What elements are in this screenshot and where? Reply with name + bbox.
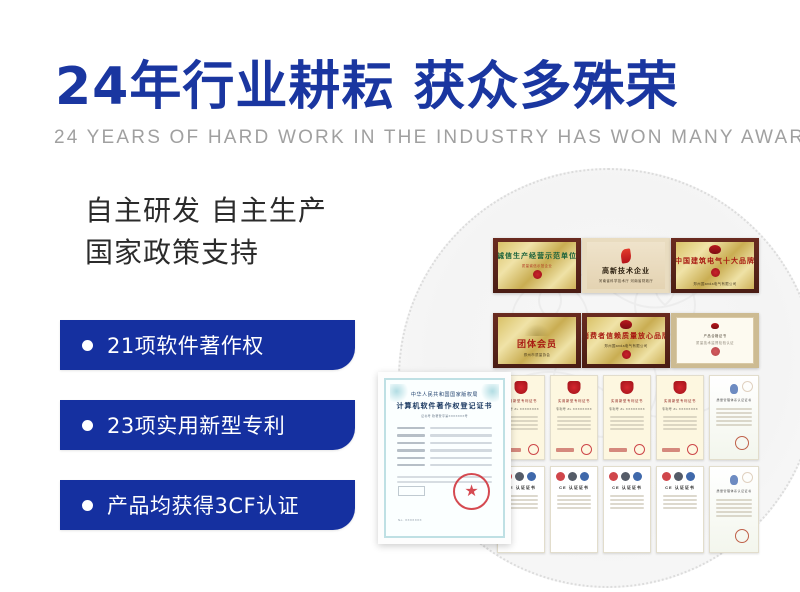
rohs-mark-icon — [674, 472, 683, 481]
iso-mark-icon — [686, 472, 695, 481]
ce-title: CE 认证证书 — [657, 485, 703, 491]
ce-body-lines — [557, 495, 591, 511]
lead-text: 自主研发 自主生产 国家政策支持 — [85, 190, 327, 274]
iso-mark-icon — [527, 472, 536, 481]
signature-mark — [556, 448, 574, 452]
iso-mark-icon — [633, 472, 642, 481]
plaque-face: 诚信生产经营示范单位 质量诚信示范企业 — [498, 242, 576, 289]
patent-title: 实用新型专利证书 — [551, 398, 597, 403]
certificate-body: 中华人民共和国国家版权局 计算机软件著作权登记证书 证书号 软著登字第XXXXX… — [384, 378, 505, 538]
seal-icon — [711, 268, 720, 277]
patent-title: 实用新型专利证书 — [657, 398, 703, 403]
software-copyright-certificate: 中华人民共和国国家版权局 计算机软件著作权登记证书 证书号 软著登字第XXXXX… — [378, 372, 511, 544]
feature-bar-label: 21项软件著作权 — [107, 330, 264, 360]
ce-body-lines — [610, 495, 644, 511]
round-seal-icon — [735, 436, 749, 450]
emblem-icon — [620, 320, 632, 329]
round-seal-icon — [581, 444, 592, 455]
page-title: 24年行业耕耘 获众多殊荣 — [55, 58, 678, 116]
plaque-subtitle: 质量技术监督检验认证 — [696, 340, 734, 345]
patent-certificate: 实用新型专利证书 专利号 ZL XXXXXXXX — [550, 375, 598, 460]
quality-certificate: 质量管理体系认证证书 — [709, 466, 759, 553]
quality-certificate-title: 质量管理体系认证证书 — [710, 489, 758, 493]
corner-ring-icon — [742, 472, 753, 483]
quality-body-lines — [716, 408, 752, 428]
rohs-mark-icon — [515, 472, 524, 481]
patent-footer — [556, 444, 592, 455]
certificate-footer-no: No. XXXXXXX — [398, 518, 422, 522]
iso-mark-icon — [580, 472, 589, 481]
seal-icon — [622, 350, 631, 359]
award-plaque: 诚信生产经营示范单位 质量诚信示范企业 — [493, 238, 581, 293]
plaque-face: 高新技术企业 河南省科学技术厅 河南省财政厅 — [587, 242, 665, 289]
certification-logo-icon — [730, 475, 738, 485]
red-star-seal-icon: ★ — [453, 473, 490, 510]
corner-ring-icon — [742, 381, 753, 392]
certificate-reg-no: 证书号 软著登字第XXXXXXX号 — [421, 414, 468, 418]
plaque-face: 消费者信赖质量放心品牌 郑州国anda电气有限公司 — [587, 317, 665, 364]
bullet-icon — [82, 420, 93, 431]
patent-certificate: 实用新型专利证书 专利号 ZL XXXXXXXX — [656, 375, 704, 460]
ce-logo-row — [556, 472, 592, 481]
certificate-authority: 中华人民共和国国家版权局 — [411, 391, 478, 398]
quality-certificate: 质量管理体系认证证书 — [709, 375, 759, 460]
lead-line-2: 国家政策支持 — [85, 232, 327, 274]
national-emblem-icon — [621, 381, 634, 394]
plaque-subtitle: 质量诚信示范企业 — [522, 263, 552, 268]
certificate-field-row — [397, 427, 493, 429]
patent-subtitle: 专利号 ZL XXXXXXXX — [551, 407, 597, 411]
round-seal-icon — [687, 444, 698, 455]
ce-logo-row — [609, 472, 645, 481]
round-seal-icon — [634, 444, 645, 455]
national-emblem-icon — [568, 381, 581, 394]
award-plaque: 消费者信赖质量放心品牌 郑州国anda电气有限公司 — [582, 313, 670, 368]
lead-line-1: 自主研发 自主生产 — [85, 190, 327, 232]
ce-mark-icon — [556, 472, 565, 481]
ce-title: CE 认证证书 — [551, 485, 597, 491]
award-plaque: 中国建筑电气十大品牌 郑州国anda电气有限公司 — [671, 238, 759, 293]
feature-bar-label: 23项实用新型专利 — [107, 410, 285, 440]
flame-icon — [620, 248, 632, 263]
plaque-face: 团体会员 郑州市质量协会 — [498, 317, 576, 364]
award-plaque: 产品合格证书 质量技术监督检验认证 — [671, 313, 759, 368]
ce-certificate: CE 认证证书 — [603, 466, 651, 553]
certificate-field-row — [397, 449, 493, 451]
plaque-subtitle: 郑州市质量协会 — [524, 352, 551, 357]
certification-logo-icon — [730, 384, 738, 394]
national-emblem-icon — [515, 381, 528, 394]
rohs-mark-icon — [621, 472, 630, 481]
patent-title: 实用新型专利证书 — [604, 398, 650, 403]
plaque-face: 中国建筑电气十大品牌 郑州国anda电气有限公司 — [676, 242, 754, 289]
feature-bar-3cf-certification[interactable]: 产品均获得3CF认证 — [60, 480, 355, 530]
plaque-title: 消费者信赖质量放心品牌 — [587, 331, 665, 341]
certificate-fields — [397, 427, 493, 471]
plaque-title: 团体会员 — [517, 337, 557, 350]
patent-body-lines — [610, 416, 644, 432]
certificate-field-row — [397, 434, 493, 436]
bullet-icon — [82, 500, 93, 511]
plaque-subtitle: 郑州国anda电气有限公司 — [604, 343, 647, 348]
emblem-icon — [709, 245, 721, 254]
plaque-title: 中国建筑电气十大品牌 — [676, 256, 754, 266]
signature-mark — [662, 448, 680, 452]
plaque-title: 诚信生产经营示范单位 — [498, 251, 576, 261]
plaque-face: 产品合格证书 质量技术监督检验认证 — [676, 317, 754, 364]
certificate-field-row — [397, 464, 493, 466]
certificate-title: 计算机软件著作权登记证书 — [397, 401, 493, 411]
quality-certificate-title: 质量管理体系认证证书 — [710, 398, 758, 402]
certificate-signature-box — [398, 486, 425, 496]
emblem-icon — [711, 323, 719, 329]
patent-certificate: 实用新型专利证书 专利号 ZL XXXXXXXX — [603, 375, 651, 460]
patent-subtitle: 专利号 ZL XXXXXXXX — [604, 407, 650, 411]
certificate-field-row — [397, 457, 493, 459]
fan-ornament-icon — [524, 324, 550, 336]
quality-body-lines — [716, 499, 752, 519]
ce-body-lines — [663, 495, 697, 511]
plaque-title: 高新技术企业 — [602, 266, 650, 276]
patent-body-lines — [557, 416, 591, 432]
patent-footer — [609, 444, 645, 455]
ce-certificate: CE 认证证书 — [550, 466, 598, 553]
ce-mark-icon — [662, 472, 671, 481]
certificate-field-row — [397, 442, 493, 444]
round-seal-icon — [528, 444, 539, 455]
plaque-subtitle: 河南省科学技术厅 河南省财政厅 — [599, 278, 653, 283]
promo-banner: 24年行业耕耘 获众多殊荣 24 YEARS OF HARD WORK IN T… — [0, 0, 800, 592]
ce-mark-icon — [609, 472, 618, 481]
ce-logo-row — [662, 472, 698, 481]
ce-certificate: CE 认证证书 — [656, 466, 704, 553]
feature-bar-software-copyright[interactable]: 21项软件著作权 — [60, 320, 355, 370]
plaque-subtitle: 郑州国anda电气有限公司 — [693, 281, 736, 286]
bullet-icon — [82, 340, 93, 351]
award-plaque: 高新技术企业 河南省科学技术厅 河南省财政厅 — [582, 238, 670, 293]
patent-body-lines — [663, 416, 697, 432]
national-emblem-icon — [674, 381, 687, 394]
round-seal-icon — [735, 529, 749, 543]
seal-icon — [533, 270, 542, 279]
seal-icon — [711, 347, 720, 356]
certificate-grid: 实用新型专利证书 专利号 ZL XXXXXXXX 实用新型专利证书 专利号 ZL… — [497, 375, 759, 553]
plaque-title: 产品合格证书 — [704, 333, 727, 338]
signature-mark — [609, 448, 627, 452]
feature-bar-label: 产品均获得3CF认证 — [107, 490, 299, 520]
page-subtitle: 24 YEARS OF HARD WORK IN THE INDUSTRY HA… — [54, 126, 800, 150]
patent-subtitle: 专利号 ZL XXXXXXXX — [657, 407, 703, 411]
patent-footer — [662, 444, 698, 455]
ce-title: CE 认证证书 — [604, 485, 650, 491]
feature-bar-utility-patents[interactable]: 23项实用新型专利 — [60, 400, 355, 450]
rohs-mark-icon — [568, 472, 577, 481]
award-plaque: 团体会员 郑州市质量协会 — [493, 313, 581, 368]
